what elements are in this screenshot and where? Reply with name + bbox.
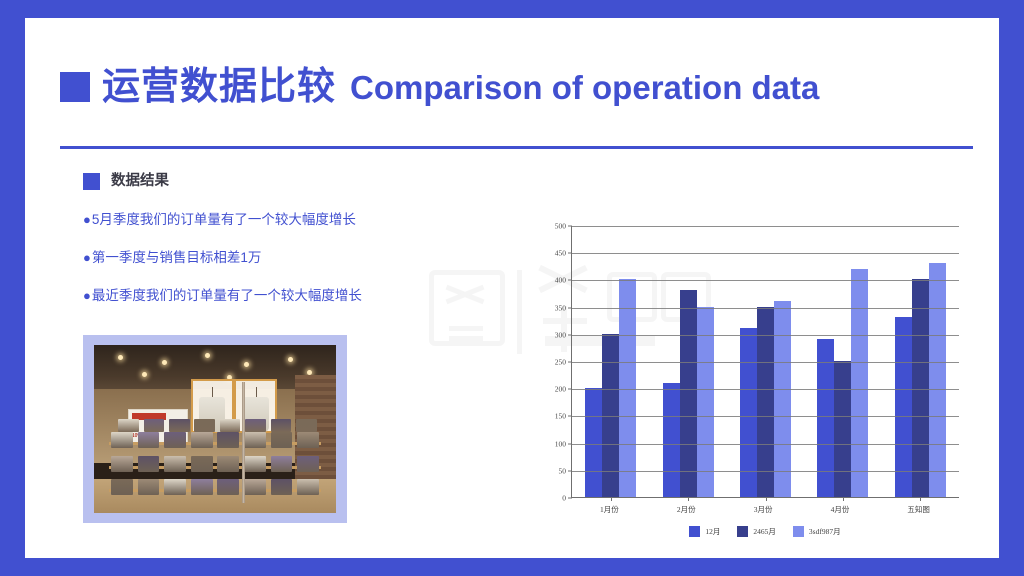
title-row: 运营数据比较 Comparison of operation data [60, 56, 970, 118]
photo-folded-stack [138, 456, 160, 472]
chart-y-tick-mark [568, 307, 572, 308]
chart-x-tick-label: 五知图 [907, 504, 930, 515]
chart-bar[interactable] [680, 290, 697, 497]
slide-frame: 运营数据比较 Comparison of operation data 数据结果… [0, 0, 1024, 576]
photo-folded-stack [271, 479, 293, 495]
photo-folded-stack [244, 432, 266, 448]
chart-y-tick-label: 350 [555, 303, 566, 312]
watermark-shape [449, 336, 483, 341]
title-square-icon [60, 72, 90, 102]
photo-folded-stack [191, 456, 213, 472]
chart-bar[interactable] [834, 361, 851, 497]
photo-ceiling-light [162, 360, 167, 365]
watermark-shape [517, 270, 522, 354]
chart-legend-swatch [737, 526, 748, 537]
photo-pole [242, 382, 245, 503]
section-heading-label: 数据结果 [111, 174, 169, 189]
list-item-text: 最近季度我们的订单量有了一个较大幅度增长 [92, 288, 362, 304]
chart-legend-label: 2465月 [753, 526, 776, 537]
section-heading: 数据结果 [83, 173, 483, 190]
chart-y-tick-mark [568, 253, 572, 254]
chart-y-tick-label: 300 [555, 330, 566, 339]
chart-bar[interactable] [929, 263, 946, 497]
photo-folded-stack [244, 456, 266, 472]
photo-folded-stack [297, 456, 319, 472]
chart-y-tick-mark [568, 443, 572, 444]
photo-folded-stack [144, 419, 165, 432]
chart-y-tick-label: 250 [555, 358, 566, 367]
chart-legend: 12月2465月3sdf987月 [571, 526, 959, 537]
photo-folded-stack [296, 419, 317, 432]
chart-legend-swatch [793, 526, 804, 537]
photo-folded-stack [111, 479, 133, 495]
chart-y-tick-mark [568, 362, 572, 363]
slide-canvas: 运营数据比较 Comparison of operation data 数据结果… [25, 18, 999, 558]
chart-x-tick-mark [920, 497, 921, 501]
chart-x-tick-label: 1月份 [600, 504, 619, 515]
chart-x-tick-label: 2月份 [677, 504, 696, 515]
list-item: ● 5月季度我们的订单量有了一个较大幅度增长 [83, 212, 483, 228]
photo-folded-stack [297, 432, 319, 448]
photo-folded-stack [164, 456, 186, 472]
chart-bar[interactable] [774, 301, 791, 497]
photo-ceiling-light [288, 357, 293, 362]
photo-folded-stack [217, 456, 239, 472]
page-title-cn: 运营数据比较 [102, 68, 336, 106]
photo-folded-stack [118, 419, 139, 432]
photo-folded-stack [191, 479, 213, 495]
chart-legend-item[interactable]: 3sdf987月 [793, 526, 841, 537]
chart-y-tick-mark [568, 226, 572, 227]
chart-bar[interactable] [851, 269, 868, 497]
chart-gridline [572, 362, 959, 363]
chart-y-tick-mark [568, 498, 572, 499]
photo-folded-stack [194, 419, 215, 432]
photo-folded-stack [271, 419, 292, 432]
photo-folded-stack [169, 419, 190, 432]
chart-gridline [572, 416, 959, 417]
chart-legend-item[interactable]: 12月 [689, 526, 720, 537]
photo-folded-stack [297, 479, 319, 495]
photo-folded-stack [164, 432, 186, 448]
chart-bar[interactable] [663, 383, 680, 497]
chart-x-tick-mark [611, 497, 612, 501]
chart-x-tick-label: 4月份 [831, 504, 850, 515]
photo-folded-stack [138, 432, 160, 448]
chart-x-tick-mark [843, 497, 844, 501]
list-item: ● 第一季度与销售目标相差1万 [83, 250, 483, 266]
bullet-dot-icon: ● [83, 212, 91, 228]
chart-gridline [572, 253, 959, 254]
chart-y-tick-label: 100 [555, 439, 566, 448]
chart-legend-item[interactable]: 2465月 [737, 526, 776, 537]
photo-folded-stack [111, 432, 133, 448]
photo-frame: 10%OFF [83, 335, 347, 523]
photo-folded-stack [244, 479, 266, 495]
chart-gridline [572, 226, 959, 227]
chart-legend-label: 12月 [705, 526, 720, 537]
photo-folded-stack [271, 432, 293, 448]
bullet-dot-icon: ● [83, 250, 91, 266]
bar-chart: 050100150200250300350400450500 1月份2月份3月份… [523, 218, 993, 548]
watermark-shape [449, 326, 483, 331]
chart-x-axis-labels: 1月份2月份3月份4月份五知图 [571, 504, 959, 515]
chart-y-tick-label: 450 [555, 249, 566, 258]
chart-y-tick-mark [568, 416, 572, 417]
list-item-text: 5月季度我们的订单量有了一个较大幅度增长 [92, 212, 356, 228]
photo-folded-stack [245, 419, 266, 432]
left-panel: 数据结果 ● 5月季度我们的订单量有了一个较大幅度增长 ● 第一季度与销售目标相… [83, 173, 483, 327]
photo-folded-stack [111, 456, 133, 472]
chart-x-tick-label: 3月份 [754, 504, 773, 515]
list-item: ● 最近季度我们的订单量有了一个较大幅度增长 [83, 288, 483, 304]
chart-legend-swatch [689, 526, 700, 537]
chart-x-tick-mark [766, 497, 767, 501]
photo-folded-stack [164, 479, 186, 495]
chart-gridline [572, 389, 959, 390]
photo-ceiling-light [244, 362, 249, 367]
chart-gridline [572, 444, 959, 445]
chart-gridline [572, 308, 959, 309]
photo-folded-stack [217, 432, 239, 448]
photo-folded-stack [271, 456, 293, 472]
chart-legend-label: 3sdf987月 [809, 526, 841, 537]
chart-y-tick-label: 400 [555, 276, 566, 285]
list-item-text: 第一季度与销售目标相差1万 [92, 250, 262, 266]
photo-folded-stack [191, 432, 213, 448]
chart-y-tick-label: 500 [555, 222, 566, 231]
store-photo: 10%OFF [94, 345, 336, 513]
chart-y-tick-label: 200 [555, 385, 566, 394]
chart-x-tick-mark [688, 497, 689, 501]
photo-folded-stack [138, 479, 160, 495]
page-title-en: Comparison of operation data [350, 71, 819, 104]
chart-y-tick-mark [568, 280, 572, 281]
chart-y-tick-mark [568, 334, 572, 335]
chart-gridline [572, 280, 959, 281]
header-divider [60, 146, 973, 149]
section-square-icon [83, 173, 100, 190]
chart-y-tick-mark [568, 470, 572, 471]
chart-gridline [572, 471, 959, 472]
chart-gridline [572, 335, 959, 336]
slide-header: 运营数据比较 Comparison of operation data [60, 56, 970, 136]
chart-y-tick-label: 150 [555, 412, 566, 421]
chart-y-tick-label: 0 [562, 494, 566, 503]
chart-y-tick-label: 50 [559, 466, 567, 475]
photo-folded-stack [220, 419, 241, 432]
chart-y-tick-mark [568, 389, 572, 390]
bullet-dot-icon: ● [83, 288, 91, 304]
chart-plot-area: 050100150200250300350400450500 [571, 226, 959, 498]
chart-bar[interactable] [585, 388, 602, 497]
photo-folded-stack [217, 479, 239, 495]
